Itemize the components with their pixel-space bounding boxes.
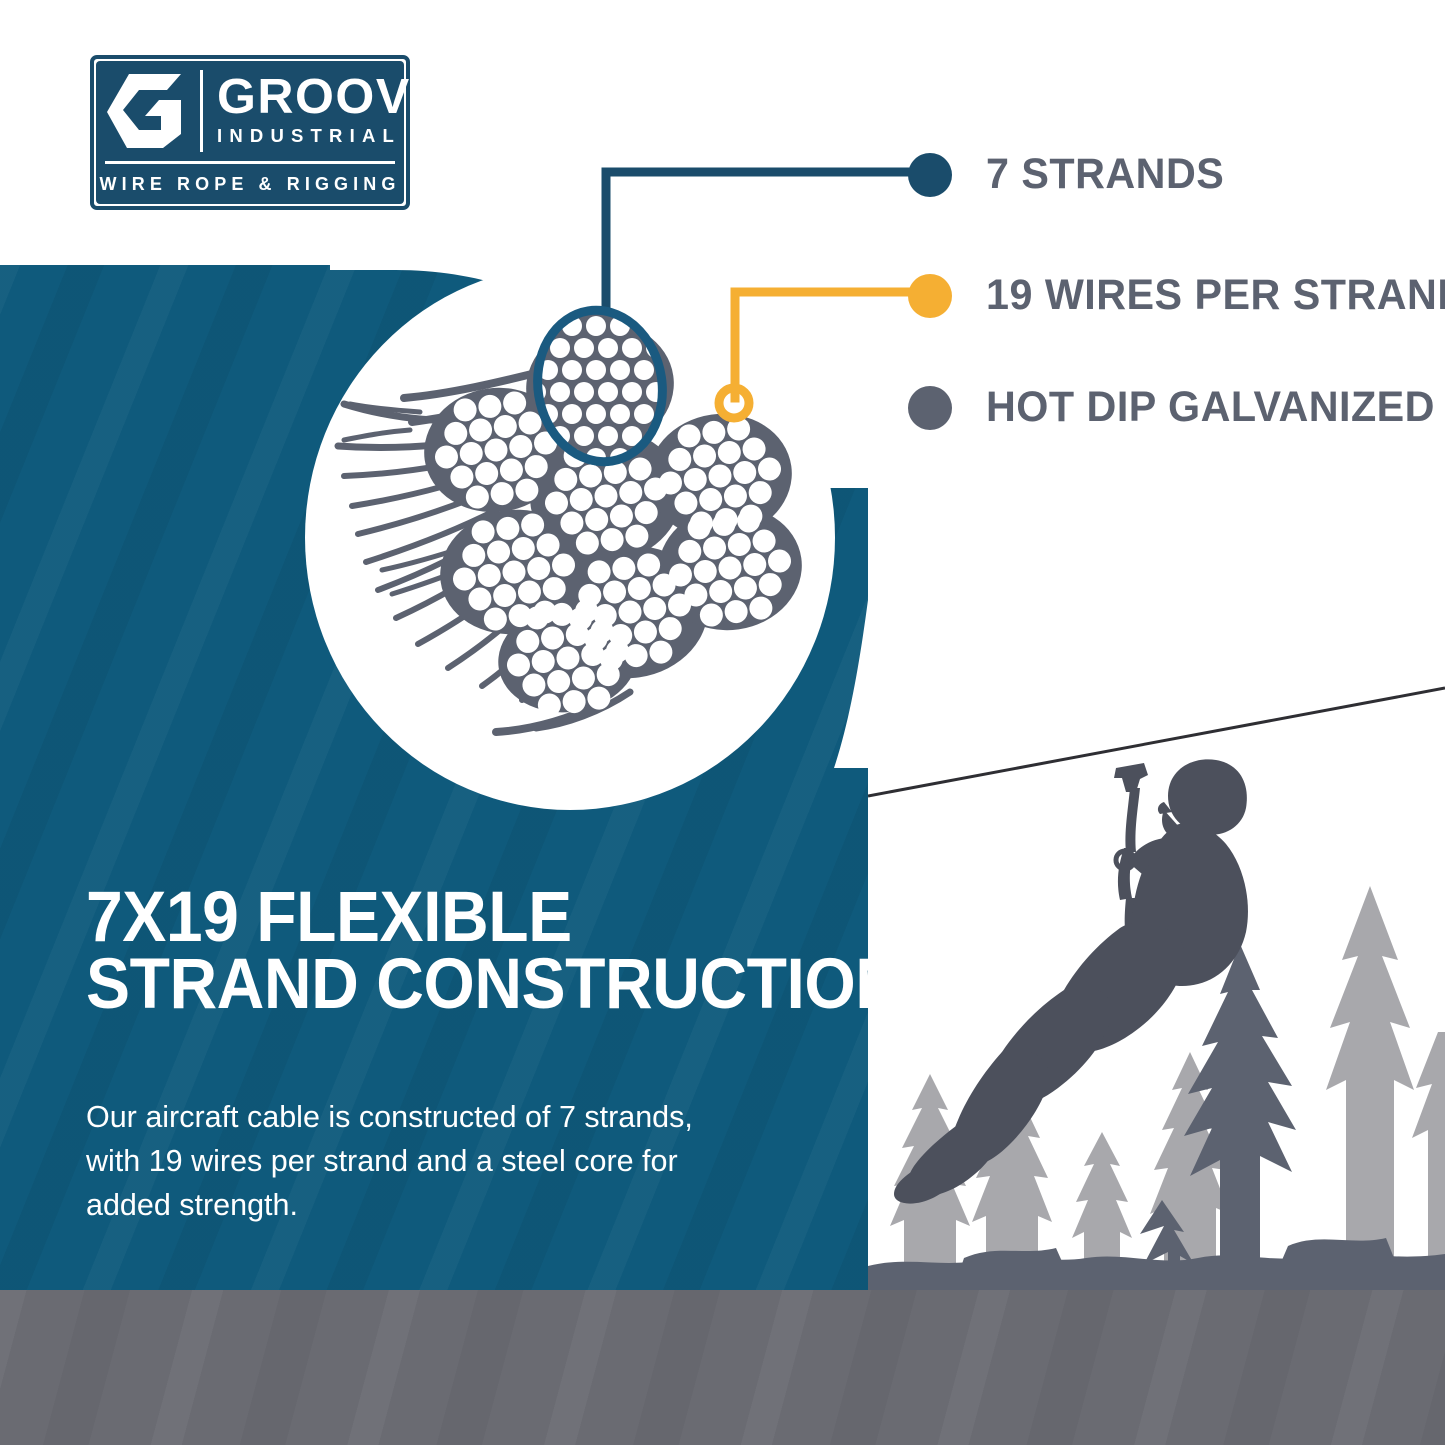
zipline-cable: [868, 688, 1445, 796]
zipline-scene: [868, 660, 1445, 1290]
logo-subtitle: INDUSTRIAL: [217, 125, 441, 147]
logo-wordmark: GROOVE INDUSTRIAL: [199, 75, 441, 146]
callout-galvanized: HOT DIP GALVANIZED: [908, 383, 1445, 432]
wires-anchor-ring: [712, 381, 756, 425]
logo-tagline-band: WIRE ROPE & RIGGING: [96, 164, 404, 204]
headline-line-1: 7X19 FLEXIBLE: [86, 884, 793, 951]
logo-name: GROOVE: [217, 75, 446, 120]
callout-label-galvanized: HOT DIP GALVANIZED: [986, 383, 1435, 432]
groove-g-monogram-icon: [96, 72, 199, 150]
zipline-trolley: [1114, 763, 1148, 792]
logo-divider: [200, 70, 203, 152]
headline-block: 7X19 FLEXIBLE STRAND CONSTRUCTION: [86, 884, 846, 1019]
brand-logo[interactable]: GROOVE INDUSTRIAL WIRE ROPE & RIGGING: [90, 55, 410, 210]
callout-label-wires: 19 WIRES PER STRAND: [986, 271, 1445, 320]
footer-bar: [0, 1290, 1445, 1445]
infographic-canvas: 7 STRANDS 19 WIRES PER STRAND HOT DIP GA…: [0, 0, 1445, 1445]
headline-line-2: STRAND CONSTRUCTION: [86, 951, 793, 1018]
tether-strap: [1125, 788, 1140, 852]
callout-dot-strands: [908, 153, 952, 197]
logo-inner-plate: GROOVE INDUSTRIAL WIRE ROPE & RIGGING: [96, 61, 404, 204]
logo-top-row: GROOVE INDUSTRIAL: [96, 61, 404, 161]
callout-strands: 7 STRANDS: [908, 150, 1234, 199]
callout-label-strands: 7 STRANDS: [986, 150, 1224, 199]
helmet: [1168, 759, 1247, 835]
logo-tagline: WIRE ROPE & RIGGING: [100, 174, 401, 195]
body-copy: Our aircraft cable is constructed of 7 s…: [86, 1095, 746, 1228]
callout-dot-galvanized: [908, 386, 952, 430]
wire-rope-illustration: [300, 300, 820, 750]
callout-wires: 19 WIRES PER STRAND: [908, 271, 1445, 320]
callout-dot-wires: [908, 274, 952, 318]
